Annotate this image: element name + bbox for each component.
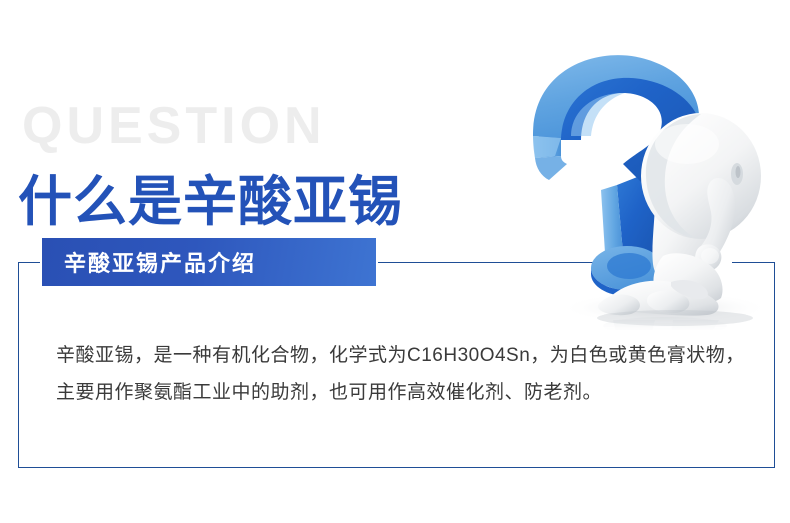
product-description-text: 辛酸亚锡，是一种有机化合物，化学式为C16H30O4Sn，为白色或黄色膏状物，主… bbox=[56, 337, 746, 411]
section-label-text: 辛酸亚锡产品介绍 bbox=[42, 246, 256, 278]
question-watermark-text: QUESTION bbox=[22, 100, 326, 152]
page-title: 什么是辛酸亚锡 bbox=[18, 175, 403, 229]
promo-banner-canvas: QUESTION 什么是辛酸亚锡 辛酸亚锡产品介绍 辛酸亚锡，是一种有机化合物，… bbox=[0, 0, 790, 523]
question-mark-figure-illustration bbox=[505, 40, 790, 330]
section-label-banner: 辛酸亚锡产品介绍 bbox=[42, 238, 376, 286]
